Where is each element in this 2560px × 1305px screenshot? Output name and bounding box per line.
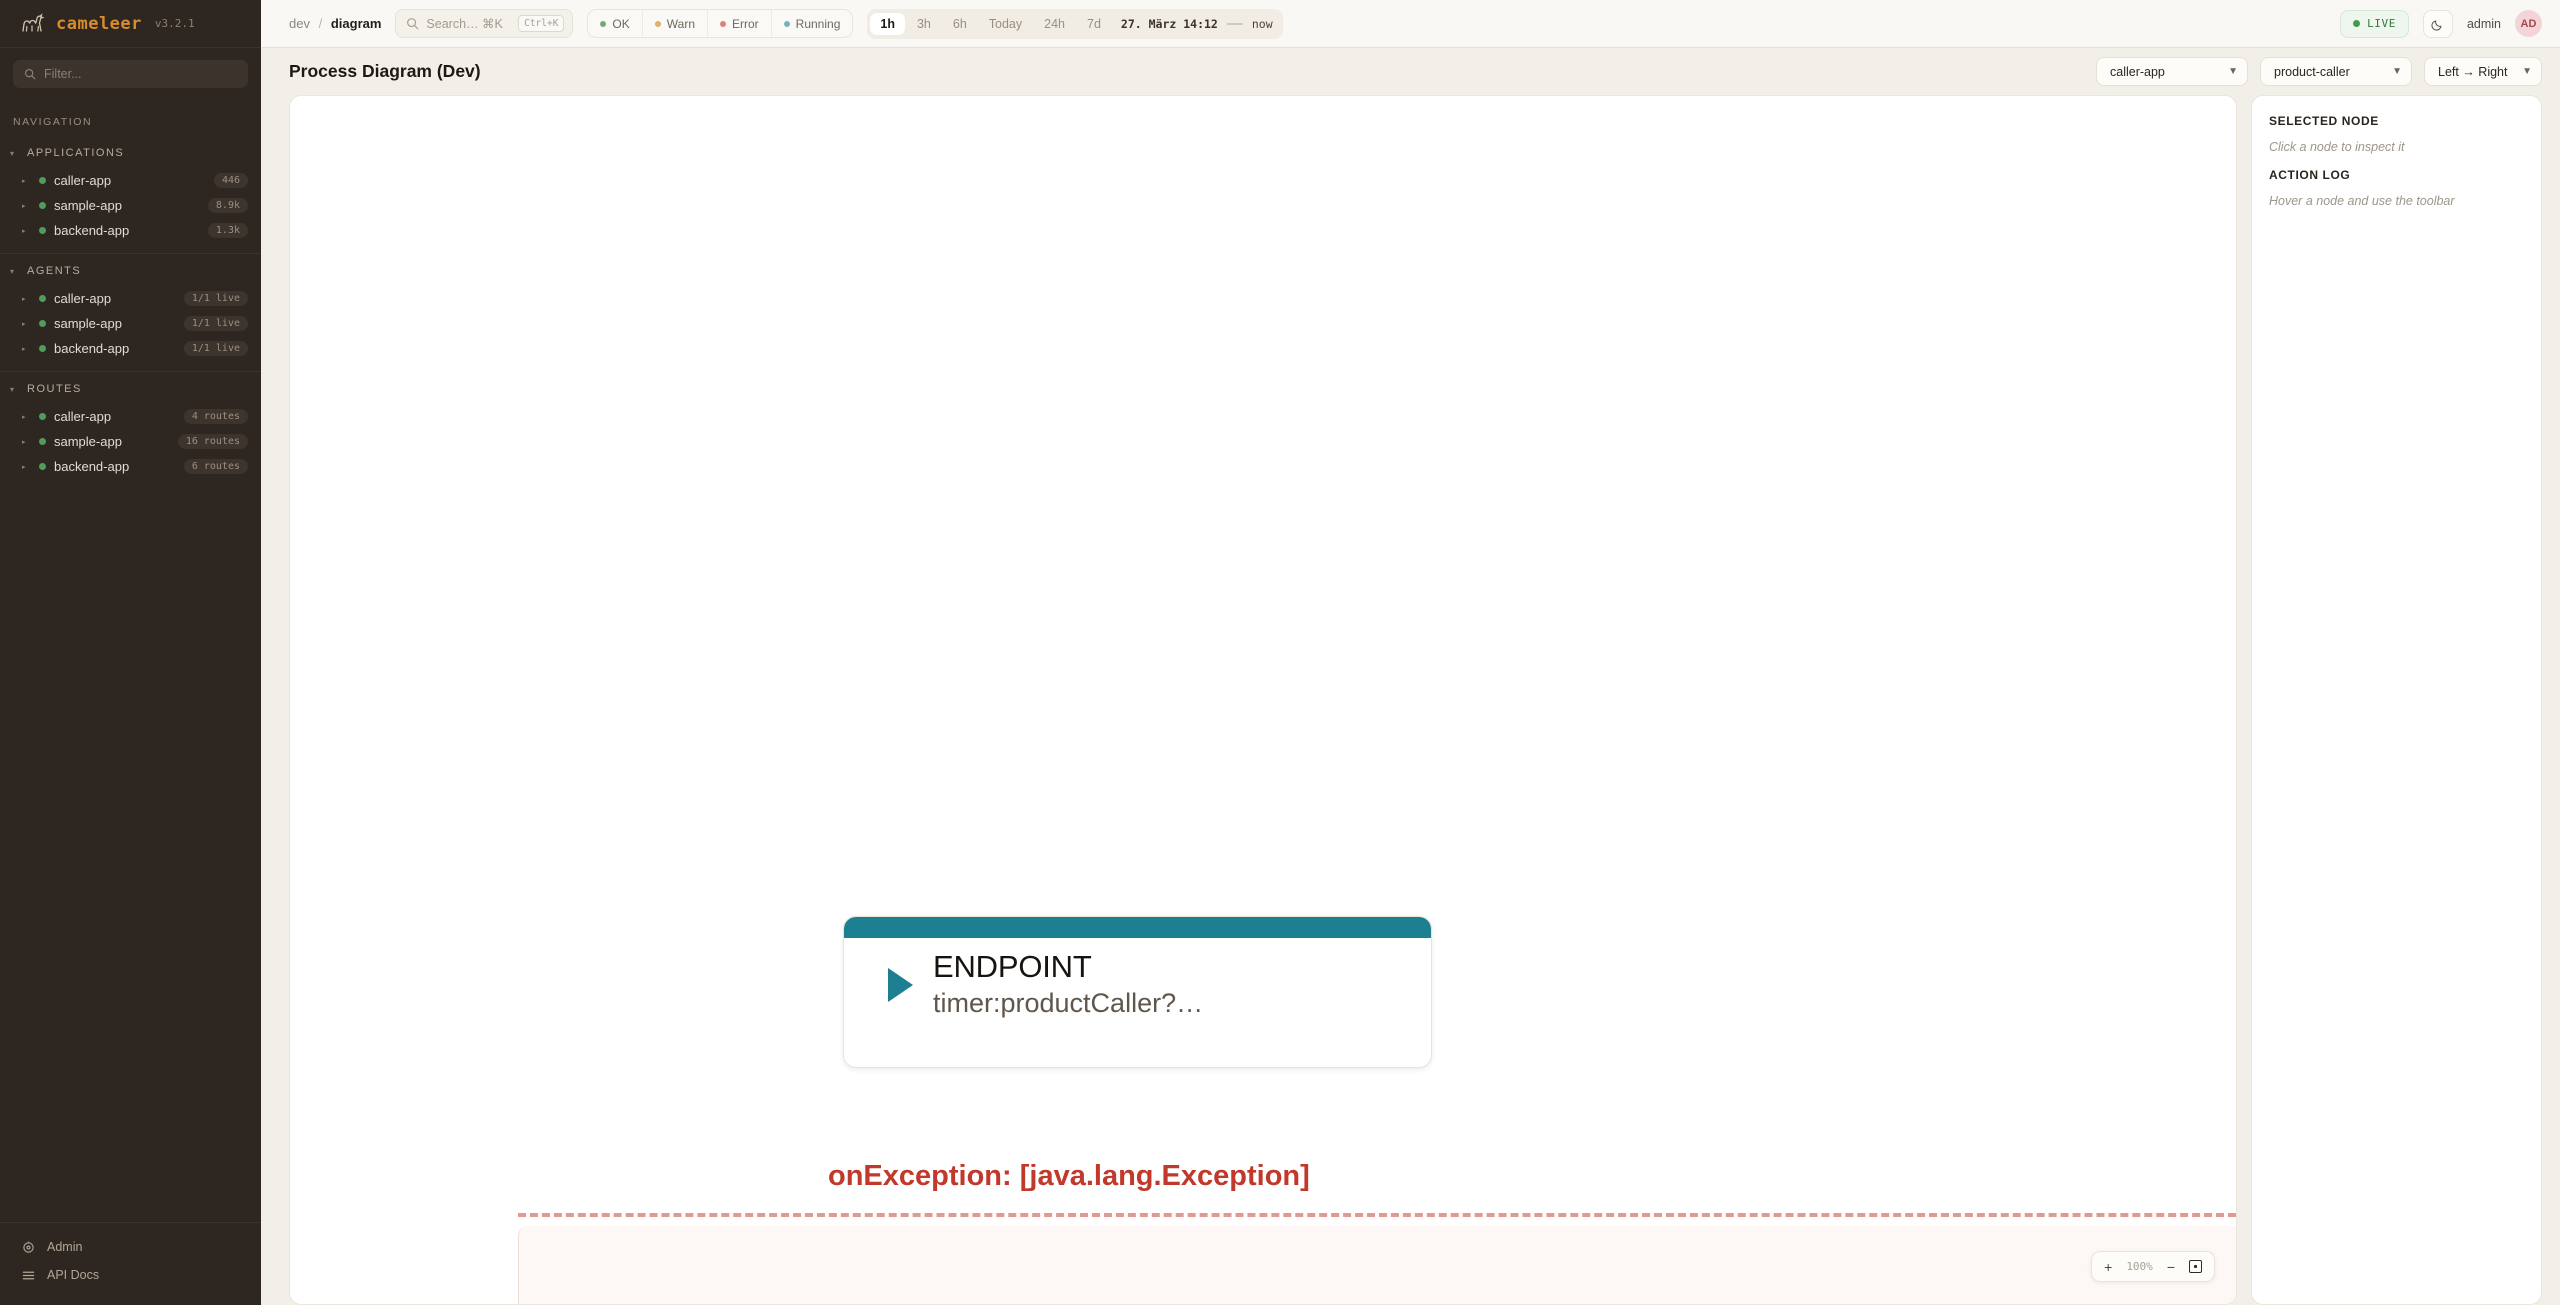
status-dot: [39, 438, 46, 445]
group-label: APPLICATIONS: [27, 147, 124, 159]
sidebar-item-routes-backend-app[interactable]: ▸ backend-app 6 routes: [0, 454, 261, 479]
item-label: caller-app: [54, 291, 176, 306]
play-icon: [888, 968, 913, 1002]
range-6h[interactable]: 6h: [943, 13, 977, 35]
group-header-routes[interactable]: ▾ ROUTES: [0, 372, 261, 404]
chevron-right-icon: ▸: [22, 295, 31, 303]
chevron-down-icon: ▼: [2392, 66, 2402, 77]
page-title: Process Diagram (Dev): [289, 61, 481, 82]
status-dot: [39, 202, 46, 209]
node-header-bar: [844, 917, 1431, 938]
sidebar-item-admin[interactable]: Admin: [0, 1233, 261, 1261]
breadcrumb-root[interactable]: dev: [289, 16, 310, 31]
item-badge: 1/1 live: [184, 341, 248, 356]
theme-toggle-button[interactable]: [2423, 10, 2453, 38]
chevron-down-icon: ▾: [10, 267, 19, 276]
select-value: product-caller: [2274, 65, 2350, 79]
node-uri: timer:productCaller?…: [933, 987, 1203, 1021]
chevron-right-icon: ▸: [22, 177, 31, 185]
chevron-right-icon: ▸: [22, 227, 31, 235]
time-range-bar: 1h 3h 6h Today 24h 7d 27. März 14:12 — n…: [867, 9, 1282, 39]
chevron-right-icon: ▸: [22, 413, 31, 421]
chevron-right-icon: ▸: [22, 202, 31, 210]
direction-select[interactable]: Left → Right ▼: [2424, 57, 2542, 86]
item-badge: 1/1 live: [184, 316, 248, 331]
sidebar-item-routes-sample-app[interactable]: ▸ sample-app 16 routes: [0, 429, 261, 454]
item-badge: 6 routes: [184, 459, 248, 474]
camel-icon: [20, 13, 46, 35]
range-absolute-start[interactable]: 27. März 14:12: [1121, 17, 1218, 31]
range-24h[interactable]: 24h: [1034, 13, 1075, 35]
zoom-out-button[interactable]: −: [2167, 1260, 2175, 1274]
sidebar-filter: [0, 48, 261, 98]
nav-group-agents: ▾ AGENTS ▸ caller-app 1/1 live ▸ sample-…: [0, 254, 261, 372]
group-header-agents[interactable]: ▾ AGENTS: [0, 254, 261, 286]
nav-group-applications: ▾ APPLICATIONS ▸ caller-app 446 ▸ sample…: [0, 136, 261, 254]
avatar[interactable]: AD: [2515, 10, 2542, 37]
sidebar-item-label: API Docs: [47, 1268, 99, 1282]
action-log-title: ACTION LOG: [2269, 168, 2524, 182]
range-7d[interactable]: 7d: [1077, 13, 1111, 35]
chevron-down-icon: ▾: [10, 149, 19, 158]
main-area: dev / diagram Search… ⌘K Ctrl+K OK: [261, 0, 2560, 1305]
chevron-down-icon: ▼: [2522, 66, 2532, 77]
chevron-right-icon: ▸: [22, 438, 31, 446]
status-dot: [39, 227, 46, 234]
group-header-applications[interactable]: ▾ APPLICATIONS: [0, 136, 261, 168]
sidebar-item-label: Admin: [47, 1240, 82, 1254]
sidebar-nav: NAVIGATION ▾ APPLICATIONS ▸ caller-app 4…: [0, 98, 261, 1222]
item-label: backend-app: [54, 459, 176, 474]
status-dot: [39, 295, 46, 302]
breadcrumb-current: diagram: [331, 16, 382, 31]
item-badge: 16 routes: [178, 434, 248, 449]
select-value: Left → Right: [2438, 65, 2507, 79]
item-badge: 1/1 live: [184, 291, 248, 306]
range-absolute-end[interactable]: now: [1252, 17, 1273, 31]
sidebar-item-agents-backend-app[interactable]: ▸ backend-app 1/1 live: [0, 336, 261, 361]
nav-heading: NAVIGATION: [0, 106, 261, 136]
topbar: dev / diagram Search… ⌘K Ctrl+K OK: [261, 0, 2560, 48]
diagram-canvas[interactable]: onException: [java.lang.Exception] ENDPO…: [289, 95, 2237, 1305]
content-area: onException: [java.lang.Exception] ENDPO…: [261, 95, 2560, 1305]
application-select[interactable]: caller-app ▼: [2096, 57, 2248, 86]
exception-label: onException: [java.lang.Exception]: [828, 1160, 1310, 1193]
moon-icon: [2431, 17, 2445, 31]
live-status-badge[interactable]: LIVE: [2340, 10, 2409, 38]
diagram-node-endpoint[interactable]: ENDPOINT timer:productCaller?…: [843, 916, 1432, 1068]
search-placeholder: Search… ⌘K: [426, 16, 511, 31]
status-dot: [39, 463, 46, 470]
list-icon: [22, 1269, 35, 1282]
sidebar-item-routes-caller-app[interactable]: ▸ caller-app 4 routes: [0, 404, 261, 429]
filter-input[interactable]: [44, 67, 237, 81]
chip-label: Error: [732, 17, 759, 31]
item-label: sample-app: [54, 316, 176, 331]
status-dot: [39, 345, 46, 352]
live-dot: [2353, 20, 2360, 27]
status-chip-ok[interactable]: OK: [588, 10, 642, 37]
sidebar-item-agents-sample-app[interactable]: ▸ sample-app 1/1 live: [0, 311, 261, 336]
inspector-panel: SELECTED NODE Click a node to inspect it…: [2251, 95, 2542, 1305]
breadcrumb-separator: /: [319, 16, 323, 31]
sidebar-item-api-docs[interactable]: API Docs: [0, 1261, 261, 1289]
status-chip-warn[interactable]: Warn: [643, 10, 708, 37]
range-dash: —: [1227, 15, 1243, 33]
range-1h[interactable]: 1h: [870, 13, 905, 35]
selected-node-title: SELECTED NODE: [2269, 114, 2524, 128]
node-body: ENDPOINT timer:productCaller?…: [844, 938, 1431, 1021]
sidebar-footer: Admin API Docs: [0, 1222, 261, 1305]
chevron-right-icon: ▸: [22, 320, 31, 328]
action-log-hint: Hover a node and use the toolbar: [2269, 194, 2524, 208]
selected-node-hint: Click a node to inspect it: [2269, 140, 2524, 154]
chevron-right-icon: ▸: [22, 345, 31, 353]
item-label: sample-app: [54, 434, 170, 449]
group-label: AGENTS: [27, 265, 81, 277]
node-kind: ENDPOINT: [933, 950, 1203, 984]
item-label: backend-app: [54, 223, 200, 238]
nav-group-routes: ▾ ROUTES ▸ caller-app 4 routes ▸ sample-…: [0, 372, 261, 489]
select-value: caller-app: [2110, 65, 2165, 79]
sidebar-item-applications-caller-app[interactable]: ▸ caller-app 446: [0, 168, 261, 193]
item-badge: 446: [214, 173, 248, 188]
item-badge: 4 routes: [184, 409, 248, 424]
exception-region: [518, 1226, 2236, 1304]
chip-label: Warn: [667, 17, 695, 31]
live-label: LIVE: [2367, 17, 2396, 30]
brand-name: cameleer: [56, 14, 142, 34]
filter-box[interactable]: [13, 60, 248, 88]
item-badge: 8.9k: [208, 198, 248, 213]
brand-logo[interactable]: cameleer v3.2.1: [0, 0, 261, 48]
breadcrumb: dev / diagram: [289, 16, 381, 31]
search-input[interactable]: Search… ⌘K Ctrl+K: [395, 9, 573, 38]
status-chip-bar: OK Warn Error Running: [587, 9, 853, 38]
chevron-down-icon: ▼: [2228, 66, 2238, 77]
range-3h[interactable]: 3h: [907, 13, 941, 35]
item-label: caller-app: [54, 173, 206, 188]
sidebar-item-agents-caller-app[interactable]: ▸ caller-app 1/1 live: [0, 286, 261, 311]
chevron-right-icon: ▸: [22, 463, 31, 471]
group-label: ROUTES: [27, 383, 82, 395]
avatar-initials: AD: [2521, 18, 2537, 30]
page-header: Process Diagram (Dev) caller-app ▼ produ…: [261, 48, 2560, 95]
route-select[interactable]: product-caller ▼: [2260, 57, 2412, 86]
search-icon: [406, 17, 419, 30]
sidebar-item-applications-sample-app[interactable]: ▸ sample-app 8.9k: [0, 193, 261, 218]
chip-label: Running: [796, 17, 841, 31]
status-dot: [39, 413, 46, 420]
chevron-down-icon: ▾: [10, 385, 19, 394]
fit-to-screen-icon[interactable]: [2189, 1260, 2202, 1273]
status-dot: [39, 320, 46, 327]
status-chip-running[interactable]: Running: [772, 10, 853, 37]
chip-label: OK: [612, 17, 629, 31]
search-icon: [24, 68, 36, 80]
item-label: caller-app: [54, 409, 176, 424]
status-chip-error[interactable]: Error: [708, 10, 772, 37]
gear-icon: [22, 1241, 35, 1254]
zoom-level: 100%: [2126, 1260, 2153, 1273]
sidebar: cameleer v3.2.1 NAVIGATION ▾ APPLICATION…: [0, 0, 261, 1305]
brand-version: v3.2.1: [155, 17, 195, 30]
exception-divider: [518, 1213, 2236, 1217]
range-today[interactable]: Today: [979, 13, 1032, 35]
item-badge: 1.3k: [208, 223, 248, 238]
user-name: admin: [2467, 17, 2501, 31]
search-shortcut-badge: Ctrl+K: [518, 15, 564, 32]
item-label: sample-app: [54, 198, 200, 213]
zoom-toolbar: + 100% −: [2091, 1251, 2215, 1282]
zoom-in-button[interactable]: +: [2104, 1260, 2112, 1274]
app-root: cameleer v3.2.1 NAVIGATION ▾ APPLICATION…: [0, 0, 2560, 1305]
status-dot: [39, 177, 46, 184]
sidebar-item-applications-backend-app[interactable]: ▸ backend-app 1.3k: [0, 218, 261, 243]
item-label: backend-app: [54, 341, 176, 356]
